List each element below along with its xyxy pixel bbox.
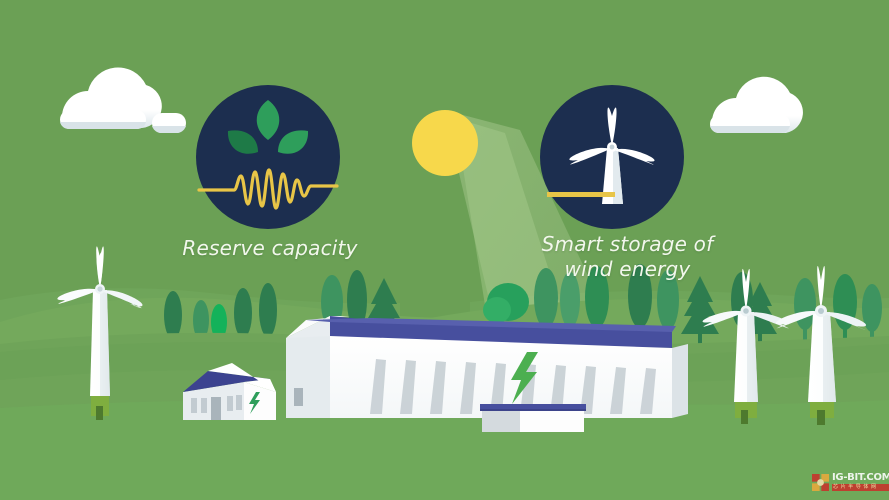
- watermark-main-text: IG-BIT.COM: [832, 473, 889, 483]
- badge-gold-bar: [547, 192, 615, 197]
- scene-background-layer: [0, 0, 889, 500]
- ig-bit-logo-icon: [812, 474, 829, 491]
- watermark: IG-BIT.COM 芯 片 半 导 体 网: [812, 471, 884, 493]
- main-warehouse-building: [286, 316, 688, 432]
- illustration-canvas: Reserve capacity Smart storage of wind e…: [0, 0, 889, 500]
- sun-icon: [412, 110, 478, 176]
- reserve-capacity-badge[interactable]: [196, 85, 340, 229]
- smart-storage-badge[interactable]: [540, 85, 684, 229]
- cloud-left-small: [152, 113, 186, 133]
- label-smart-storage: Smart storage of wind energy: [505, 232, 750, 282]
- label-reserve-capacity: Reserve capacity: [160, 236, 380, 261]
- watermark-texts: IG-BIT.COM 芯 片 半 导 体 网: [832, 473, 889, 491]
- watermark-sub-text: 芯 片 半 导 体 网: [832, 484, 889, 491]
